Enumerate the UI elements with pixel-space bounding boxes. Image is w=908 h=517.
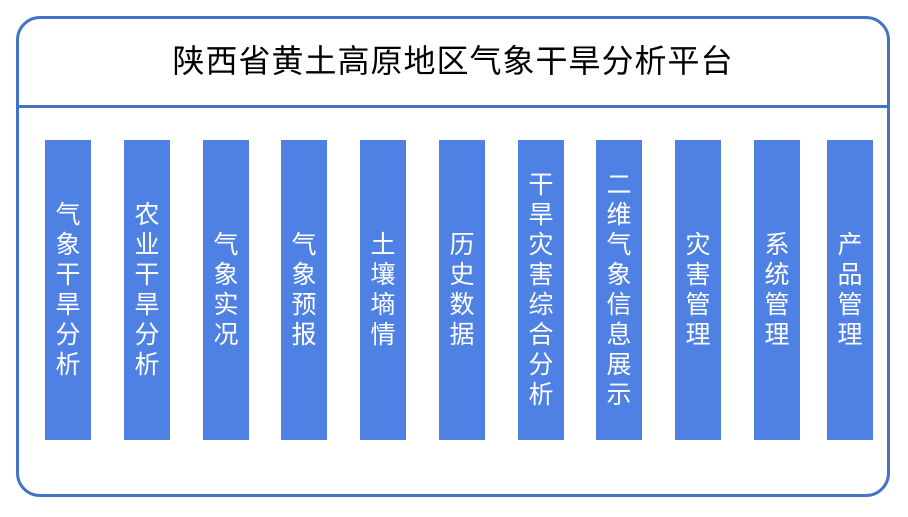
page-title: 陕西省黄土高原地区气象干旱分析平台	[172, 44, 733, 79]
nav-bar-label: 农业干旱分析	[134, 200, 160, 380]
nav-bar-10[interactable]: 系统管理	[754, 140, 800, 440]
nav-bar-label: 气象实况	[213, 230, 239, 350]
nav-bar-label: 气象干旱分析	[55, 200, 81, 380]
nav-bar-11[interactable]: 产品管理	[827, 140, 873, 440]
nav-bar-2[interactable]: 农业干旱分析	[124, 140, 170, 440]
nav-bar-label: 二维气象信息展示	[606, 170, 632, 410]
nav-bar-label: 历史数据	[449, 230, 475, 350]
nav-bar-6[interactable]: 历史数据	[439, 140, 485, 440]
nav-bar-5[interactable]: 土壤墒情	[360, 140, 406, 440]
nav-bar-label: 产品管理	[837, 230, 863, 350]
nav-bar-label: 系统管理	[764, 230, 790, 350]
nav-bar-label: 灾害管理	[685, 230, 711, 350]
nav-bar-3[interactable]: 气象实况	[203, 140, 249, 440]
nav-bar-8[interactable]: 二维气象信息展示	[596, 140, 642, 440]
nav-strip: 气象干旱分析农业干旱分析气象实况气象预报土壤墒情历史数据干旱灾害综合分析二维气象…	[19, 108, 887, 497]
platform-header: 陕西省黄土高原地区气象干旱分析平台	[19, 19, 887, 105]
platform-panel: 陕西省黄土高原地区气象干旱分析平台 气象干旱分析农业干旱分析气象实况气象预报土壤…	[16, 16, 890, 497]
nav-bar-4[interactable]: 气象预报	[281, 140, 327, 440]
nav-bar-7[interactable]: 干旱灾害综合分析	[518, 140, 564, 440]
app-root: 陕西省黄土高原地区气象干旱分析平台 气象干旱分析农业干旱分析气象实况气象预报土壤…	[0, 0, 908, 517]
nav-bar-label: 干旱灾害综合分析	[528, 170, 554, 410]
nav-bar-label: 土壤墒情	[370, 230, 396, 350]
nav-bar-label: 气象预报	[291, 230, 317, 350]
nav-bar-9[interactable]: 灾害管理	[675, 140, 721, 440]
nav-bar-1[interactable]: 气象干旱分析	[45, 140, 91, 440]
